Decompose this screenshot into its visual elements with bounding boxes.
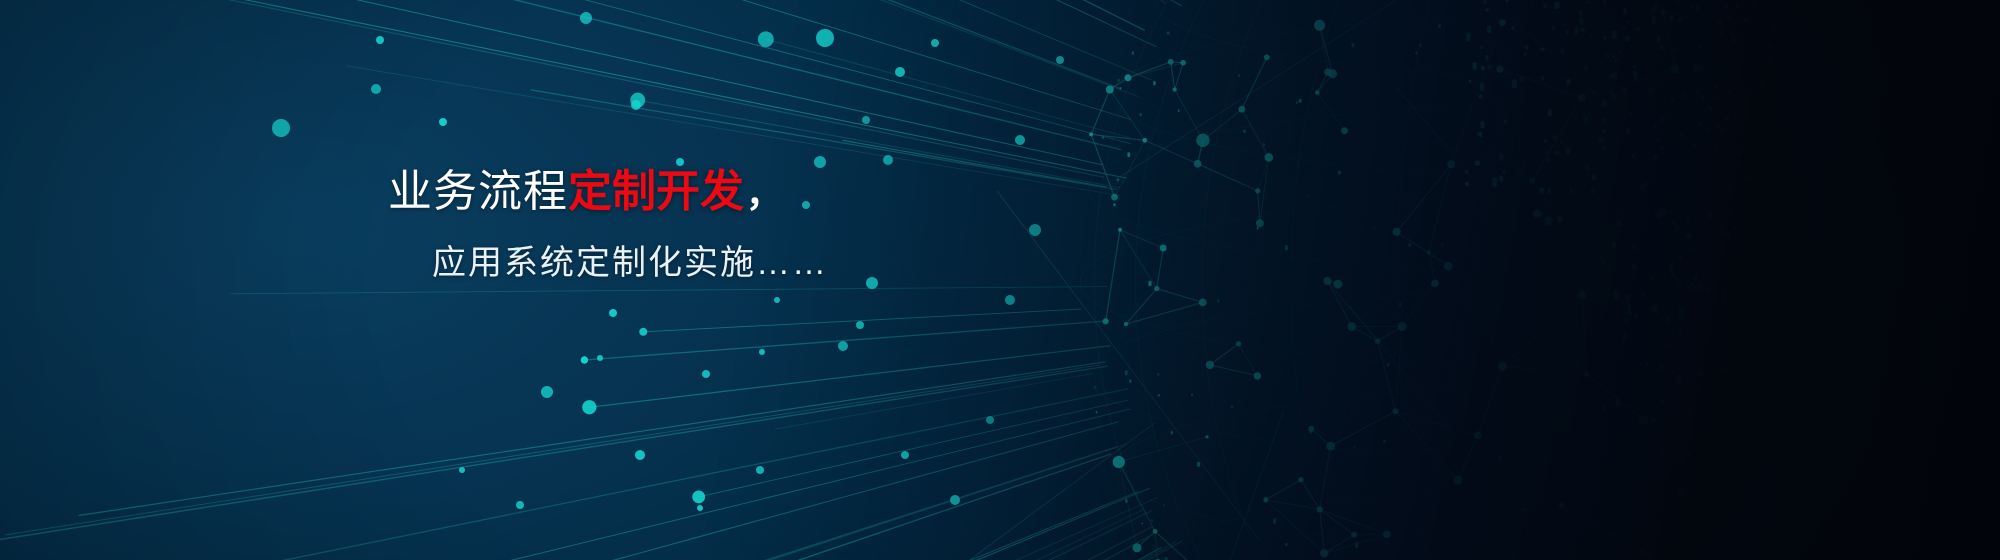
headline-prefix: 业务流程 xyxy=(388,167,568,216)
headline-block: 业务流程定制开发， 应用系统定制化实施…… xyxy=(0,0,1000,560)
headline-line-2: 应用系统定制化实施…… xyxy=(432,246,828,280)
headline-accent: 定制开发 xyxy=(568,167,744,216)
headline-comma: ， xyxy=(746,173,783,214)
headline-line-1: 业务流程定制开发， xyxy=(388,170,783,214)
hero-banner: 业务流程定制开发， 应用系统定制化实施…… xyxy=(0,0,2000,560)
